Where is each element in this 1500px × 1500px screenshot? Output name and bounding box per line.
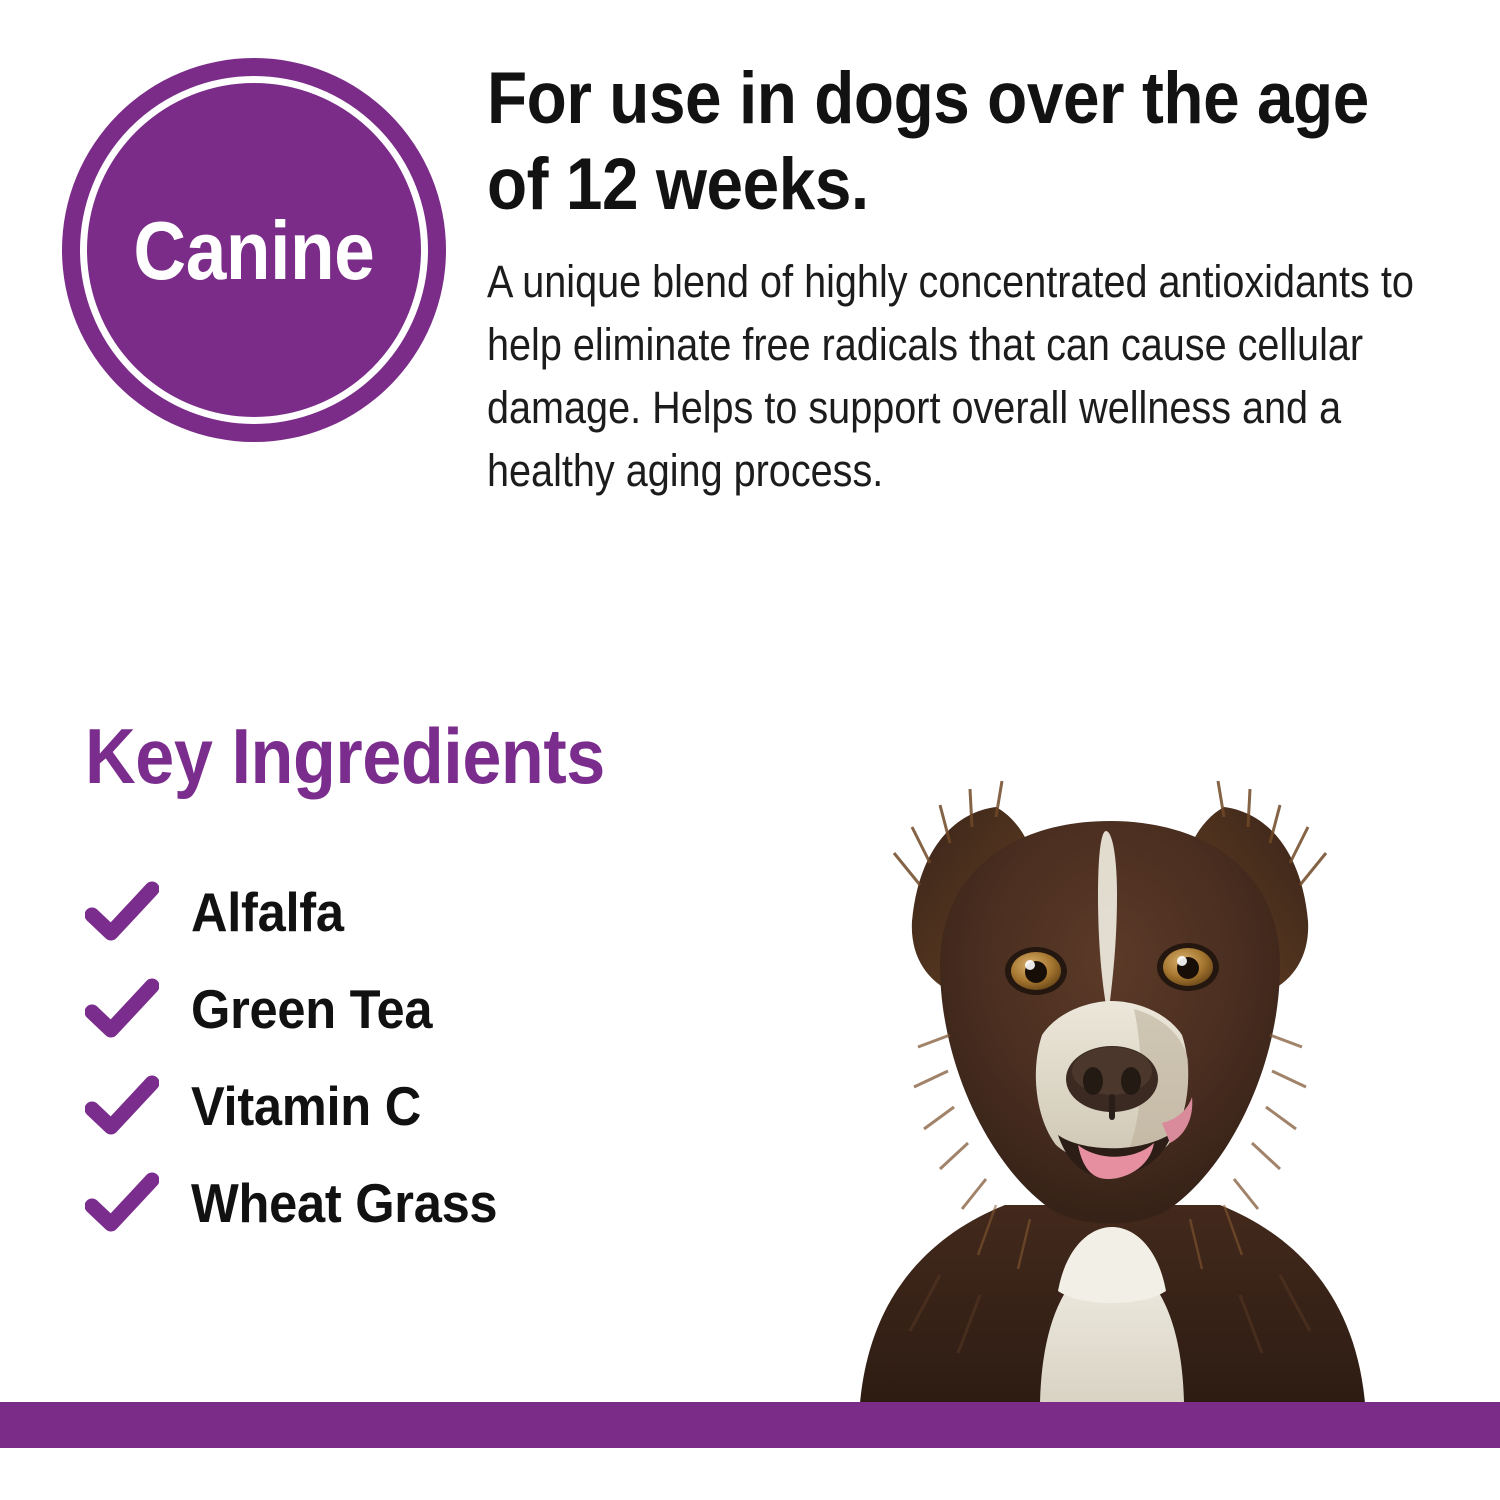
product-info-panel: Canine For use in dogs over the age of 1… [0,0,1500,1500]
ingredient-label: Alfalfa [191,885,344,940]
ingredient-label: Wheat Grass [191,1176,497,1231]
check-icon [85,1075,159,1137]
list-item: Green Tea [85,961,805,1058]
page-title: For use in dogs over the age of 12 weeks… [487,56,1441,228]
list-item: Alfalfa [85,864,805,961]
check-icon [85,978,159,1040]
header-text-block: For use in dogs over the age of 12 weeks… [487,56,1442,502]
check-icon [85,1172,159,1234]
canine-badge: Canine [62,58,446,442]
list-item: Wheat Grass [85,1155,805,1252]
dog-photo [790,735,1430,1403]
key-ingredients-title: Key Ingredients [85,716,733,798]
key-ingredients-section: Key Ingredients Alfalfa Green Tea Vitami… [85,716,805,1252]
badge-label: Canine [134,209,375,292]
ingredient-label: Green Tea [191,982,432,1037]
list-item: Vitamin C [85,1058,805,1155]
footer-bar [0,1402,1500,1448]
ingredient-label: Vitamin C [191,1079,421,1134]
ingredient-list: Alfalfa Green Tea Vitamin C Wheat Grass [85,864,805,1252]
product-description: A unique blend of highly concentrated an… [487,250,1437,502]
check-icon [85,881,159,943]
